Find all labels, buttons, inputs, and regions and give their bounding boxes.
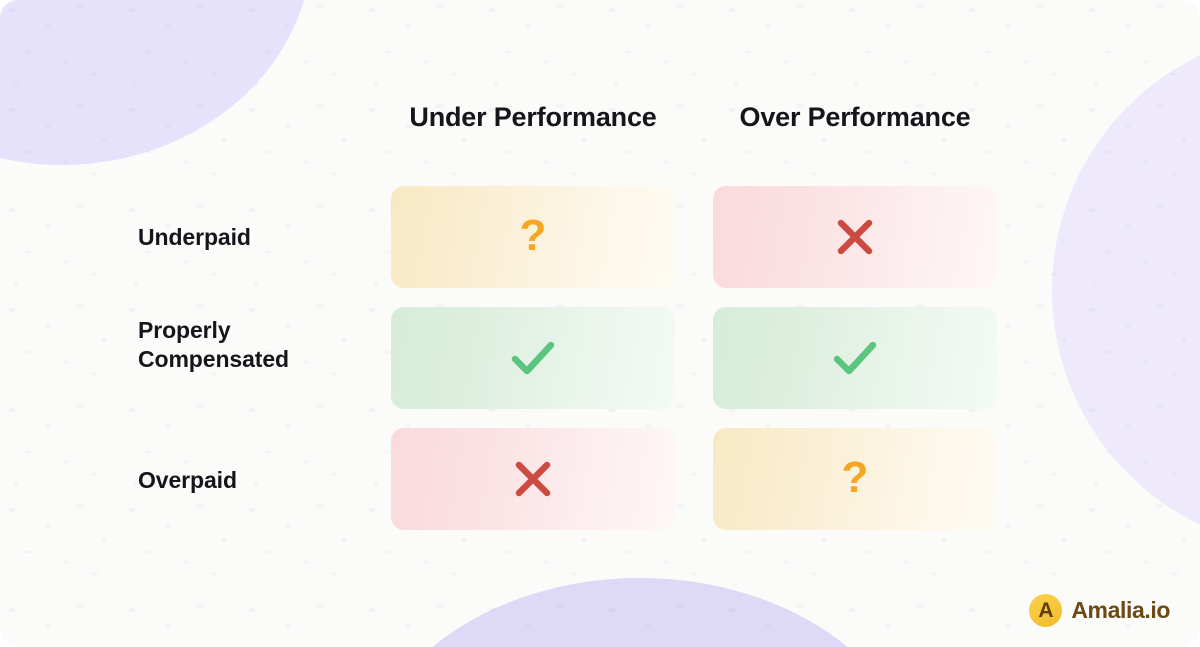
svg-text:?: ? — [842, 453, 869, 502]
row-label-overpaid: Overpaid — [138, 466, 378, 495]
compensation-performance-matrix: Under Performance Over Performance Under… — [0, 0, 1200, 647]
matrix-cell-overpaid-under-performance[interactable] — [391, 428, 675, 530]
matrix-cell-underpaid-over-performance[interactable] — [713, 186, 997, 288]
row-label-properly-compensated: Properly Compensated — [138, 316, 378, 374]
amalia-logo-icon: A — [1029, 594, 1062, 627]
question-mark-icon: ? — [511, 212, 555, 262]
brand-wordmark: Amalia.io — [1071, 599, 1170, 622]
matrix-cell-underpaid-under-performance[interactable]: ? — [391, 186, 675, 288]
column-header-under-performance: Under Performance — [391, 100, 675, 134]
row-label-underpaid: Underpaid — [138, 223, 378, 252]
matrix-cell-properly-compensated-under-performance[interactable] — [391, 307, 675, 409]
check-mark-icon — [831, 337, 879, 379]
matrix-cell-overpaid-over-performance[interactable]: ? — [713, 428, 997, 530]
svg-text:?: ? — [520, 211, 547, 260]
brand-mark-letter: A — [1038, 600, 1053, 621]
cross-mark-icon — [834, 216, 876, 258]
cross-mark-icon — [512, 458, 554, 500]
brand-logo[interactable]: A Amalia.io — [1029, 594, 1170, 627]
question-mark-icon: ? — [833, 454, 877, 504]
column-header-over-performance: Over Performance — [713, 100, 997, 134]
infographic-canvas: Under Performance Over Performance Under… — [0, 0, 1200, 647]
matrix-cell-properly-compensated-over-performance[interactable] — [713, 307, 997, 409]
check-mark-icon — [509, 337, 557, 379]
